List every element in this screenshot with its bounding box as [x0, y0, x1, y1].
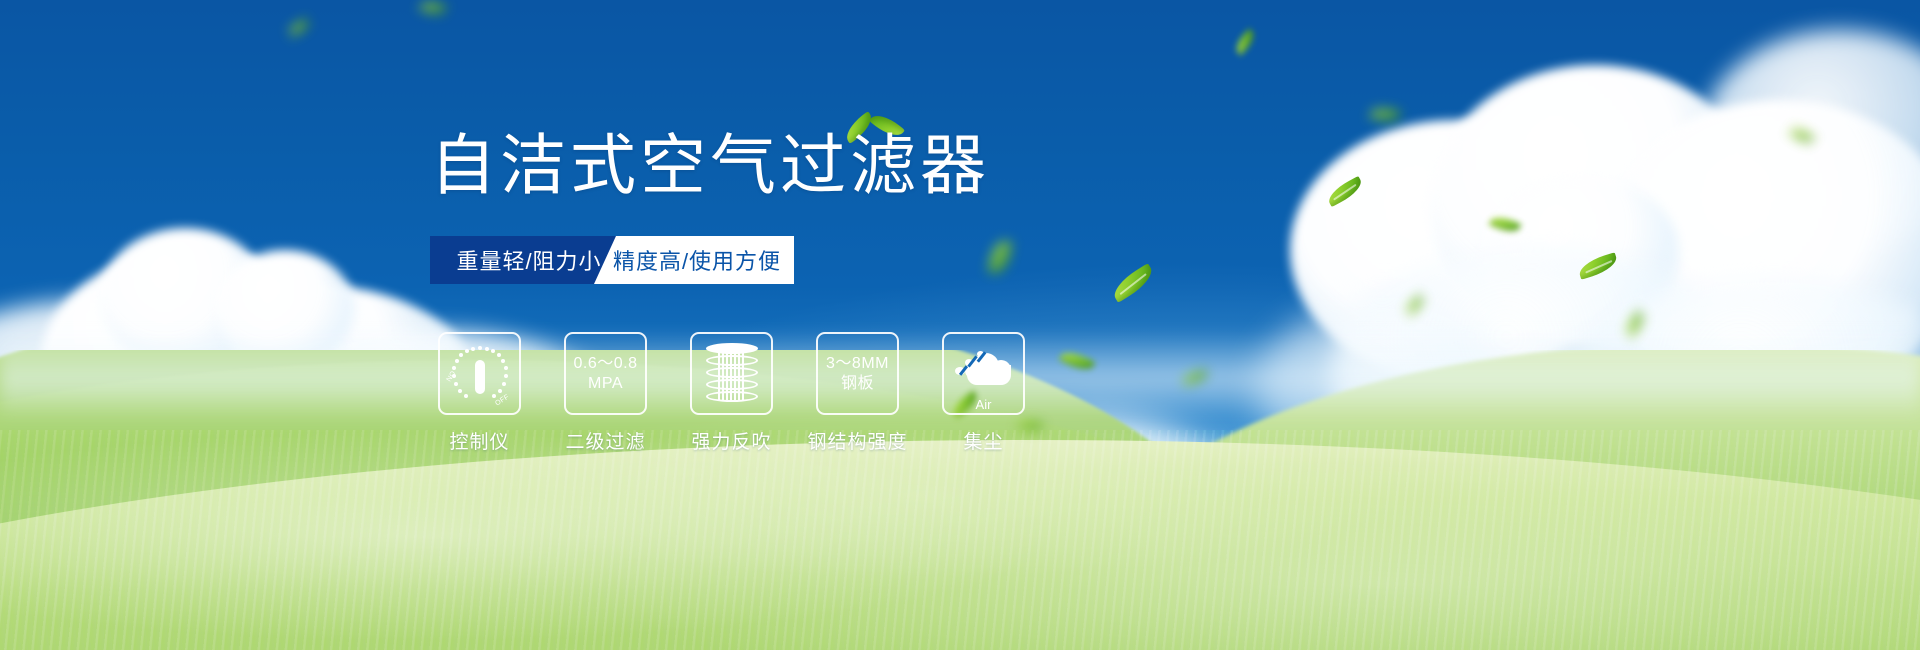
pressure-value-line2: MPA	[588, 374, 623, 394]
banner-title: 自洁式空气过滤器	[430, 132, 990, 198]
cartridge-ring	[706, 391, 758, 402]
gauge-label-right: OFF	[494, 393, 510, 407]
feature-icon-box: 3～8MM 钢板	[816, 332, 899, 415]
feature-icon-box	[690, 332, 773, 415]
feature-caption: 钢结构强度	[808, 427, 908, 454]
banner-content: 自洁式空气过滤器 重量轻/阻力小 精度高/使用方便	[0, 0, 1920, 650]
cartridge-ring	[706, 355, 758, 366]
feature-caption: 控制仪	[449, 427, 509, 454]
steel-value-line1: 3～8MM	[826, 354, 889, 374]
cartridge-ring	[706, 379, 758, 390]
steel-value-line2: 钢板	[841, 374, 874, 394]
feature-icon-box: Air	[942, 332, 1025, 415]
feature-caption: 集尘	[963, 427, 1003, 454]
gauge-needle	[475, 360, 485, 394]
feature-item-pressure[interactable]: 0.6～0.8 MPA 二级过滤	[564, 332, 647, 454]
feature-item-steel[interactable]: 3～8MM 钢板 钢结构强度	[816, 332, 899, 454]
gauge-icon: NO OFF	[449, 345, 511, 403]
feature-caption: 强力反吹	[691, 427, 771, 454]
feature-icon-box: NO OFF	[438, 332, 521, 415]
feature-list: NO OFF 控制仪 0.6～0.8 MPA 二级过滤	[438, 332, 1025, 454]
cloud-puff	[991, 360, 1011, 380]
hero-banner: 自洁式空气过滤器 重量轻/阻力小 精度高/使用方便	[0, 0, 1920, 650]
cartridge-ring	[706, 343, 758, 354]
cartridge-ring	[706, 367, 758, 378]
air-cloud-icon: Air	[953, 349, 1015, 399]
tagline-tabs: 重量轻/阻力小 精度高/使用方便	[430, 236, 794, 284]
feature-icon-box: 0.6～0.8 MPA	[564, 332, 647, 415]
air-label: Air	[953, 397, 1015, 412]
tagline-tab-secondary[interactable]: 精度高/使用方便	[594, 236, 794, 284]
feature-item-backwash[interactable]: 强力反吹	[690, 332, 773, 454]
feature-item-dust[interactable]: Air 集尘	[942, 332, 1025, 454]
filter-cartridge-icon	[706, 343, 758, 405]
feature-caption: 二级过滤	[565, 427, 645, 454]
feature-item-controller[interactable]: NO OFF 控制仪	[438, 332, 521, 454]
tagline-tab-primary[interactable]: 重量轻/阻力小	[430, 236, 616, 284]
pressure-value-line1: 0.6～0.8	[574, 354, 638, 374]
